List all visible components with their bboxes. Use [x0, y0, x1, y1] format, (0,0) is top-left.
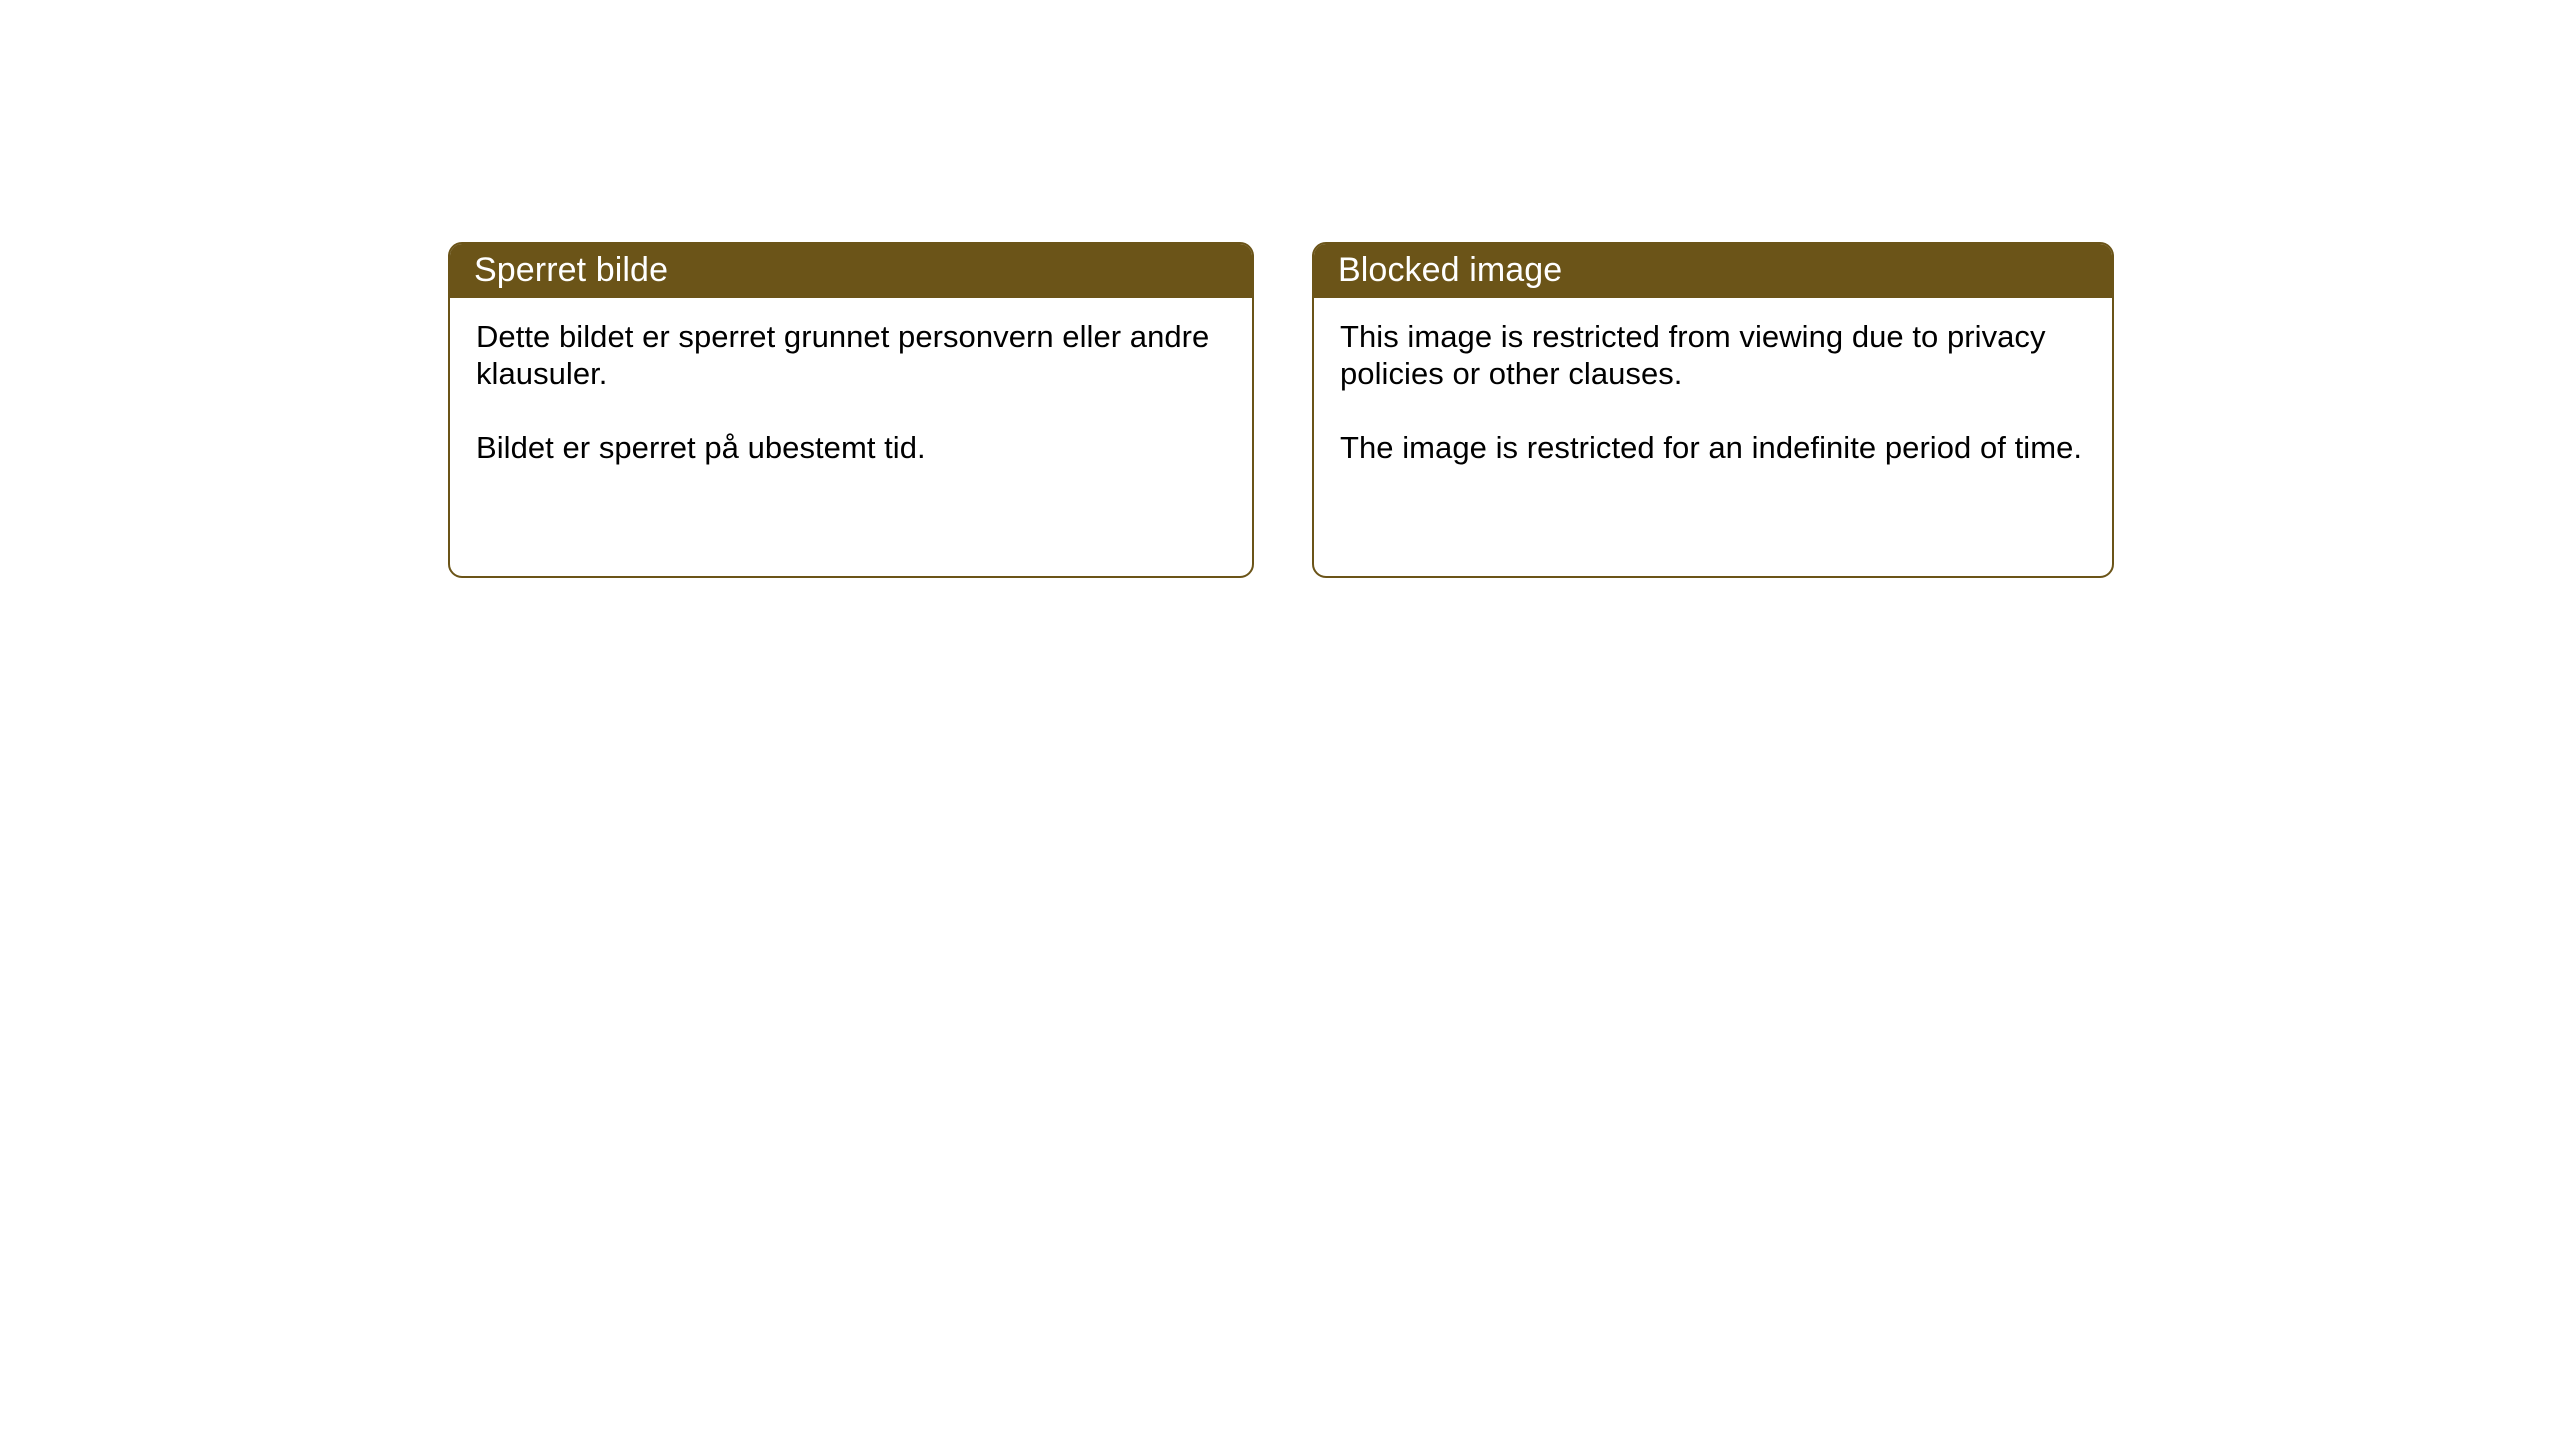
panel-header-english: Blocked image — [1312, 242, 2114, 298]
blocked-image-notice-english: Blocked image This image is restricted f… — [1312, 242, 2114, 578]
panel-paragraph-duration-norwegian: Bildet er sperret på ubestemt tid. — [476, 429, 1230, 466]
blocked-image-notice-norwegian: Sperret bilde Dette bildet er sperret gr… — [448, 242, 1254, 578]
panel-paragraph-duration-english: The image is restricted for an indefinit… — [1340, 429, 2090, 466]
panel-body-norwegian: Dette bildet er sperret grunnet personve… — [450, 298, 1252, 466]
panel-paragraph-reason-norwegian: Dette bildet er sperret grunnet personve… — [476, 318, 1230, 392]
panel-header-norwegian: Sperret bilde — [448, 242, 1254, 298]
panel-title-english: Blocked image — [1338, 251, 1562, 289]
page-canvas: Sperret bilde Dette bildet er sperret gr… — [0, 0, 2560, 1440]
panel-body-english: This image is restricted from viewing du… — [1314, 298, 2112, 466]
panel-paragraph-reason-english: This image is restricted from viewing du… — [1340, 318, 2090, 392]
panel-title-norwegian: Sperret bilde — [474, 251, 668, 289]
